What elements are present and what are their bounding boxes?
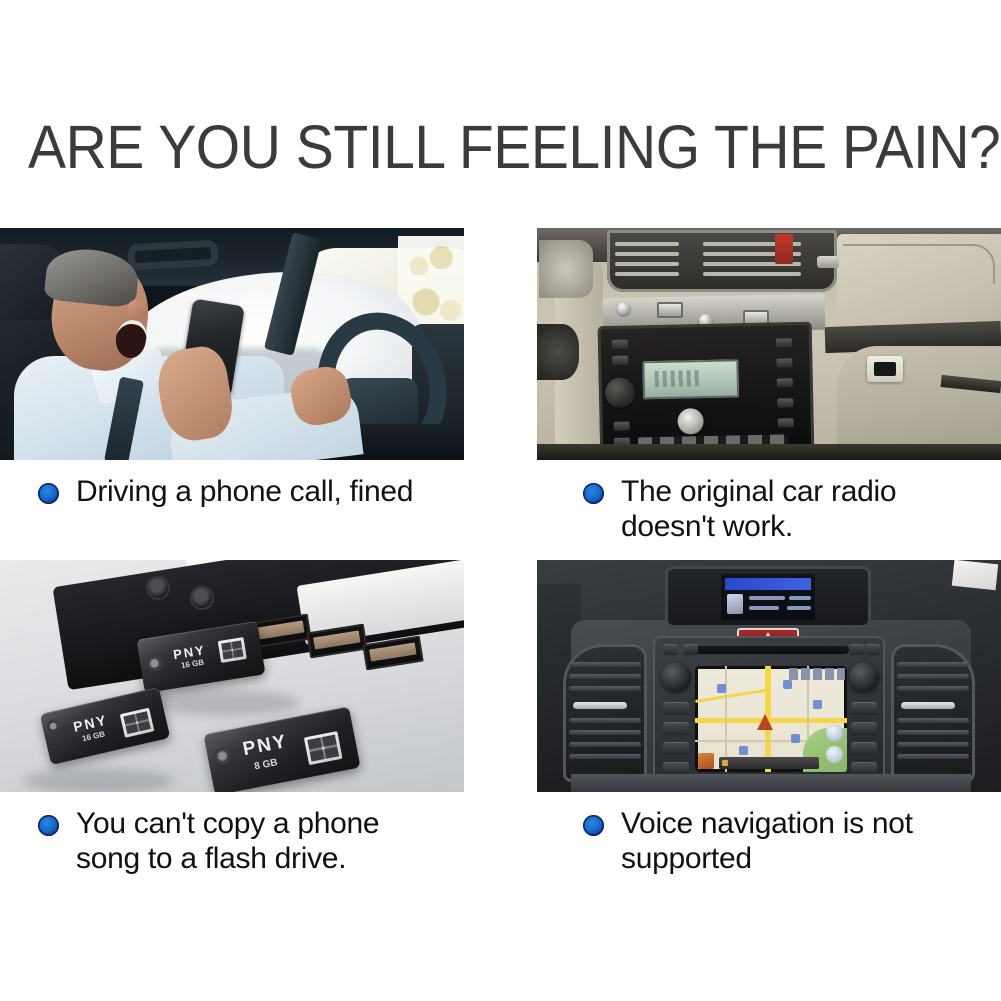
windshield-sticker	[952, 560, 998, 590]
center-air-vent	[607, 230, 837, 292]
caption-text: The original car radio doesn't work.	[621, 474, 951, 544]
headphone-jack	[146, 576, 170, 600]
radio-display-text	[655, 370, 699, 387]
volume-knob	[605, 377, 636, 408]
radio-button	[777, 398, 793, 407]
car-navigation-head-unit-photo	[537, 560, 1001, 792]
car-radio-unit	[598, 322, 815, 460]
vent-slat	[703, 272, 801, 276]
bullet-point-icon	[583, 483, 604, 504]
radio-brand-emblem	[677, 408, 704, 435]
head-unit-button[interactable]	[663, 742, 689, 755]
caption-text: Voice navigation is not supported	[621, 806, 951, 876]
lanyard-loop-icon	[145, 654, 163, 672]
head-unit-button[interactable]	[663, 644, 678, 655]
map-poi-marker	[791, 734, 800, 743]
vent-slat	[615, 262, 679, 266]
tune-knob-right[interactable]	[849, 662, 879, 692]
dash-seam-line	[843, 244, 995, 284]
caption-text: Driving a phone call, fined	[76, 474, 413, 509]
windows-logo-icon	[218, 637, 247, 663]
mfd-text-line	[749, 596, 785, 600]
usb-port-contact	[257, 620, 304, 639]
head-unit-button[interactable]	[851, 702, 877, 715]
mfd-text-line	[787, 606, 811, 610]
mfd-text-line	[749, 606, 779, 610]
windows-logo-icon	[304, 731, 343, 765]
drop-shadow	[24, 768, 174, 792]
switch-insert	[874, 362, 896, 376]
feature-card-original-car-radio: The original car radio doesn't work.	[537, 228, 1001, 544]
vent-slat	[615, 242, 679, 246]
bullet-point-icon	[583, 815, 604, 836]
page-title: ARE YOU STILL FEELING THE PAIN?	[28, 116, 916, 178]
right-air-vent	[891, 644, 975, 782]
vehicle-position-arrow	[757, 714, 773, 730]
head-unit-button[interactable]	[683, 644, 698, 655]
disc-slot	[693, 646, 849, 654]
vent-slat	[569, 742, 641, 747]
vent-slat	[569, 674, 641, 679]
usb-port-contact	[369, 642, 416, 661]
old-car-radio-dashboard-photo	[537, 228, 1001, 460]
vent-red-marker	[775, 234, 793, 264]
caption-row: Driving a phone call, fined	[0, 460, 464, 509]
bullet-point-icon	[38, 815, 59, 836]
caption-row: You can't copy a phone song to a flash d…	[0, 792, 464, 876]
radio-display	[642, 359, 739, 399]
microphone-jack	[190, 586, 214, 610]
left-air-vent	[563, 644, 647, 782]
vent-slider[interactable]	[573, 702, 627, 709]
vent-slat	[897, 686, 969, 691]
multi-information-display	[721, 574, 815, 620]
radio-button	[776, 338, 792, 347]
navigation-map-screen[interactable]	[695, 666, 847, 772]
windows-logo-icon	[120, 708, 155, 738]
map-road	[695, 688, 771, 703]
steering-column-shroud	[537, 324, 579, 380]
mfd-text-line	[789, 596, 811, 600]
dash-switch-blank	[867, 356, 903, 382]
radio-button	[612, 340, 628, 349]
head-unit-button[interactable]	[851, 742, 877, 755]
map-poi-marker	[813, 700, 822, 709]
map-menu-button[interactable]	[698, 753, 714, 769]
map-zoom-in-button[interactable]	[826, 724, 843, 741]
feature-card-driving-phone-call: Driving a phone call, fined	[0, 228, 464, 509]
drive-brand-label: PNY	[241, 731, 289, 761]
driver-nose	[128, 300, 148, 320]
vent-direction-knob	[817, 256, 839, 268]
vent-slat	[897, 674, 969, 679]
mfd-title-bar	[725, 578, 811, 590]
feature-grid: Driving a phone call, fined	[0, 228, 1001, 888]
head-unit-button[interactable]	[865, 644, 880, 655]
console-bottom-trim	[571, 774, 971, 792]
vent-slat	[897, 754, 969, 759]
vent-slat	[897, 742, 969, 747]
caption-row: The original car radio doesn't work.	[537, 460, 1001, 544]
lanyard-loop-icon	[212, 746, 232, 766]
head-unit-button[interactable]	[663, 702, 689, 715]
map-toolbar-indicator	[722, 760, 728, 766]
caption-row: Voice navigation is not supported	[537, 792, 1001, 876]
mfd-fuel-icon	[727, 594, 743, 614]
radio-button	[777, 378, 793, 387]
mounting-screw	[617, 302, 630, 315]
vent-slat	[569, 718, 641, 723]
map-poi-marker	[783, 680, 792, 689]
head-unit-button[interactable]	[849, 644, 864, 655]
feature-card-voice-navigation-unsupported: Voice navigation is not supported	[537, 560, 1001, 876]
lanyard-loop-icon	[45, 718, 61, 734]
caption-text: You can't copy a phone song to a flash d…	[76, 806, 446, 876]
head-unit-button[interactable]	[663, 722, 689, 735]
poster-page: ARE YOU STILL FEELING THE PAIN?	[0, 0, 1001, 1001]
vent-slat	[569, 662, 641, 667]
vent-slat	[569, 754, 641, 759]
grab-handle	[127, 240, 218, 271]
vent-slat	[615, 272, 679, 276]
map-poi-marker	[739, 746, 748, 755]
vent-slat	[569, 730, 641, 735]
drop-shadow	[150, 690, 300, 716]
vent-slat	[897, 730, 969, 735]
radio-button	[614, 422, 630, 431]
radio-button	[612, 356, 628, 365]
feature-card-cannot-copy-phone-song: PNY 16 GB PNY 16 GB PNY 8 GB	[0, 560, 464, 876]
tune-knob-left[interactable]	[661, 662, 691, 692]
instrument-cluster-edge	[539, 240, 593, 298]
vent-slat	[897, 718, 969, 723]
usb-flash-drive: PNY 16 GB	[40, 687, 171, 765]
radio-button	[778, 418, 794, 427]
map-status-icons	[789, 668, 845, 680]
head-unit-button[interactable]	[851, 722, 877, 735]
vent-slat	[897, 662, 969, 667]
usb-flash-drive: PNY 8 GB	[203, 706, 360, 792]
map-poi-marker	[717, 684, 726, 693]
map-toolbar[interactable]	[719, 757, 819, 769]
drive-capacity-label: 8 GB	[254, 757, 279, 772]
radio-button	[776, 358, 792, 367]
vent-slat	[615, 252, 679, 256]
pny-usb-flash-drives-photo: PNY 16 GB PNY 16 GB PNY 8 GB	[0, 560, 464, 792]
vent-slider[interactable]	[901, 702, 955, 709]
bracket-slot	[657, 302, 683, 318]
bullet-point-icon	[38, 483, 59, 504]
photo-bottom-edge	[537, 444, 1001, 460]
usb-port-contact	[313, 630, 360, 649]
navigation-head-unit	[653, 636, 885, 792]
map-zoom-out-button[interactable]	[826, 746, 843, 763]
vent-slat	[569, 686, 641, 691]
angry-driver-holding-phone-photo	[0, 228, 464, 460]
glovebox-panel	[837, 346, 1001, 460]
